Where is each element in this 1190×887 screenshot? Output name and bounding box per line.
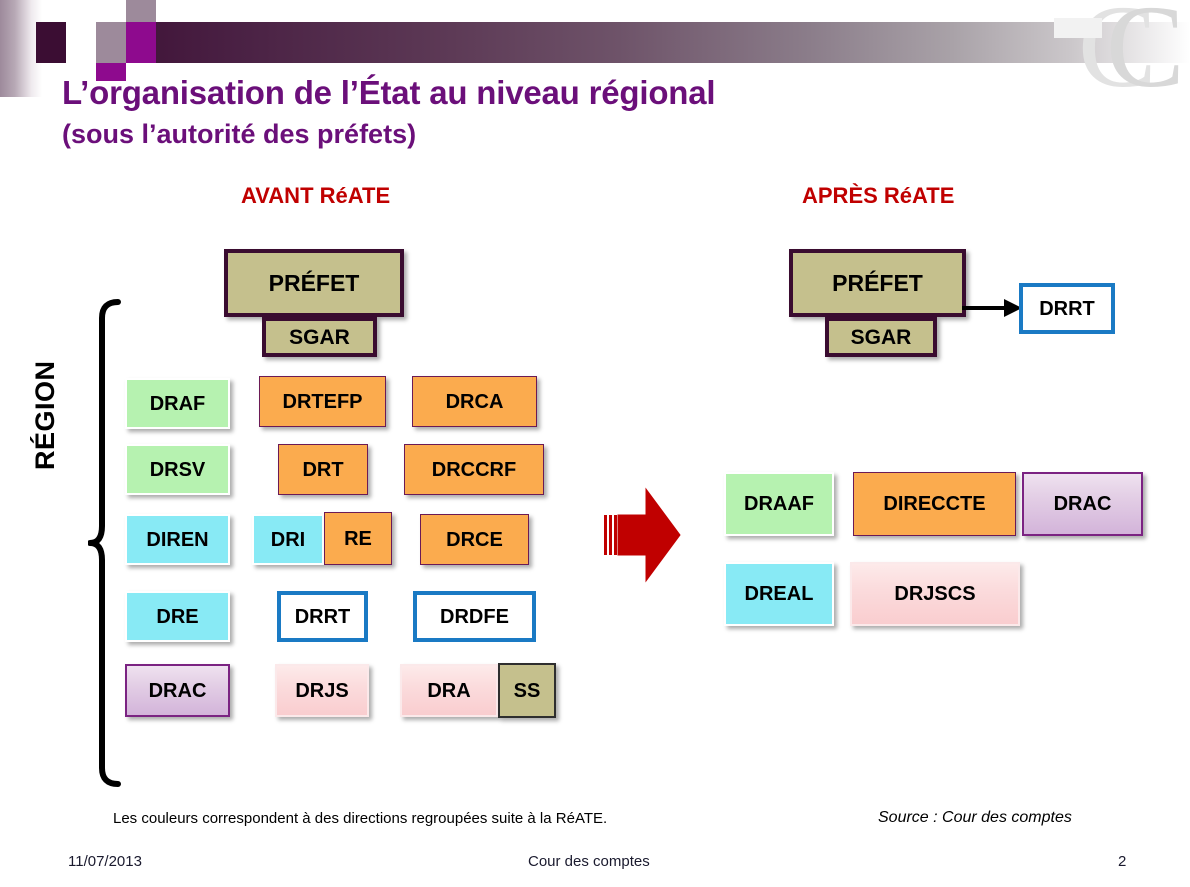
footer-date: 11/07/2013 — [68, 853, 142, 870]
after-box-dreal: DREAL — [724, 562, 834, 626]
after-sgar-box: SGAR — [825, 317, 937, 357]
header-square-5 — [96, 42, 126, 63]
section-heading-after: APRÈS RéATE — [802, 183, 954, 209]
before-sgar-box: SGAR — [262, 317, 377, 357]
header-square-10 — [126, 42, 156, 63]
header-square-4 — [96, 22, 126, 42]
header-square-1 — [36, 22, 66, 63]
before-box-drsv: DRSV — [125, 444, 230, 495]
before-box-re: RE — [324, 512, 392, 565]
prefet-to-drrt-arrow — [962, 295, 1022, 321]
after-prefet-box: PRÉFET — [789, 249, 966, 317]
legend-footnote: Les couleurs correspondent à des directi… — [113, 810, 607, 827]
before-box-drjs: DRJS — [275, 664, 369, 717]
before-box-drac: DRAC — [125, 664, 230, 717]
header-square-7 — [126, 0, 156, 22]
before-box-drrt: DRRT — [277, 591, 368, 642]
after-box-drac: DRAC — [1022, 472, 1143, 536]
after-box-drrt: DRRT — [1019, 283, 1115, 334]
before-box-drca: DRCA — [412, 376, 537, 427]
before-box-drce: DRCE — [420, 514, 529, 565]
before-box-dre: DRE — [125, 591, 230, 642]
footer-organization: Cour des comptes — [528, 853, 650, 870]
page-subtitle: (sous l’autorité des préfets) — [62, 119, 416, 150]
source-note: Source : Cour des comptes — [878, 809, 1072, 827]
slide-canvas: C C L’organisation de l’État au niveau r… — [0, 0, 1190, 887]
svg-text:C: C — [1106, 0, 1182, 100]
before-box-dra: DRA — [400, 664, 498, 717]
before-prefet-box: PRÉFET — [224, 249, 404, 317]
before-box-ss: SS — [498, 663, 556, 718]
header-square-2 — [66, 0, 96, 22]
transition-arrow — [600, 485, 682, 585]
cour-des-comptes-logo: C C — [1054, 0, 1182, 100]
before-box-draf: DRAF — [125, 378, 230, 429]
after-box-drjscs: DRJSCS — [850, 562, 1020, 626]
header-square-3 — [66, 22, 96, 63]
section-heading-before: AVANT RéATE — [241, 183, 390, 209]
before-box-drt: DRT — [278, 444, 368, 495]
before-box-diren: DIREN — [125, 514, 230, 565]
after-box-direccte: DIRECCTE — [853, 472, 1016, 536]
footer-page-number: 2 — [1118, 853, 1126, 870]
before-box-drdfe: DRDFE — [413, 591, 536, 642]
region-label: RÉGION — [30, 360, 61, 470]
header-square-9 — [156, 0, 182, 22]
before-box-drccrf: DRCCRF — [404, 444, 544, 495]
region-brace — [88, 298, 122, 788]
page-title: L’organisation de l’État au niveau régio… — [62, 74, 715, 112]
after-box-draaf: DRAAF — [724, 472, 834, 536]
header-gradient-band — [0, 22, 1190, 63]
before-box-dri: DRI — [252, 514, 324, 565]
before-box-drtefp: DRTEFP — [259, 376, 386, 427]
